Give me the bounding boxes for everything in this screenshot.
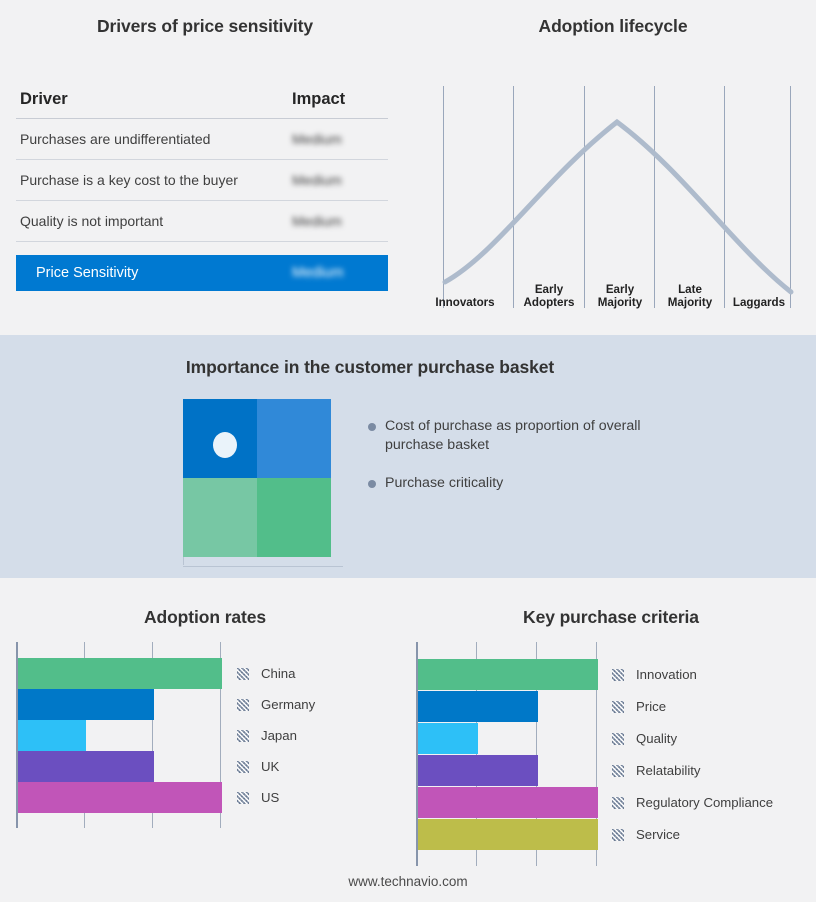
key-purchase-criteria-panel: Key purchase criteria InnovationPriceQua… [406,578,816,902]
bar-fill [18,689,154,720]
legend-swatch-icon [612,669,624,681]
lifecycle-stage-early-majority: Early Majority [588,283,652,309]
table-row-highlighted[interactable]: Price Sensitivity Medium [16,255,388,291]
bar-fill [418,691,538,722]
impact-value: Medium [292,172,384,188]
adoption-lifecycle-panel: Adoption lifecycle Innovators Early Adop… [410,0,816,335]
bar-regulatory-compliance[interactable] [418,787,598,818]
legend-label: UK [261,759,279,774]
legend-item-japan[interactable]: Japan [237,728,297,743]
column-header-driver: Driver [20,90,292,109]
legend-item-price[interactable]: Price [612,699,666,714]
driver-name: Price Sensitivity [36,265,292,281]
legend-swatch-icon [612,829,624,841]
adoption-lifecycle-title: Adoption lifecycle [410,16,816,37]
quadrant-position-marker [213,432,237,458]
key-purchase-criteria-plot [416,642,598,866]
bar-japan[interactable] [18,720,86,751]
legend-item-regulatory-compliance[interactable]: Regulatory Compliance [612,795,773,810]
legend-label: Regulatory Compliance [636,795,773,810]
lifecycle-bell-curve [445,122,791,292]
bullet-icon [368,423,376,431]
legend-label: Quality [636,731,677,746]
legend-swatch-icon [612,701,624,713]
bar-uk[interactable] [18,751,154,782]
adoption-rates-title: Adoption rates [0,607,410,628]
adoption-rates-panel: Adoption rates ChinaGermanyJapanUKUS [0,578,410,902]
bar-fill [418,755,538,786]
adoption-rates-plot [16,642,222,828]
legend-swatch-icon [612,733,624,745]
bar-fill [18,658,222,689]
legend-item-quality[interactable]: Quality [612,731,677,746]
table-row[interactable]: Purchases are undifferentiated Medium [16,119,388,160]
legend-swatch-icon [237,730,249,742]
legend-swatch-icon [237,668,249,680]
adoption-rates-legend: ChinaGermanyJapanUKUS [237,642,387,828]
lifecycle-stage-late-majority: Late Majority [658,283,722,309]
legend-label: Cost of purchase as proportion of overal… [385,417,643,455]
adoption-lifecycle-chart: Innovators Early Adopters Early Majority… [425,78,805,313]
bar-fill [18,720,86,751]
legend-label: Purchase criticality [385,474,503,493]
key-purchase-criteria-title: Key purchase criteria [406,607,816,628]
legend-swatch-icon [612,765,624,777]
impact-value: Medium [292,131,384,147]
table-row[interactable]: Quality is not important Medium [16,201,388,242]
column-header-impact: Impact [292,90,384,109]
legend-label: Innovation [636,667,697,682]
drivers-table: Driver Impact Purchases are undifferenti… [16,90,388,291]
legend-item-relatability[interactable]: Relatability [612,763,701,778]
legend-label: Service [636,827,680,842]
drivers-panel: Drivers of price sensitivity Driver Impa… [0,0,410,335]
legend-item-innovation[interactable]: Innovation [612,667,697,682]
quadrant-cell-top-right[interactable] [257,399,331,478]
legend-label: Relatability [636,763,701,778]
legend-item-uk[interactable]: UK [237,759,279,774]
bar-china[interactable] [18,658,222,689]
quadrant-cell-top-left[interactable] [183,399,257,478]
lifecycle-stage-innovators: Innovators [422,296,508,309]
bar-quality[interactable] [418,723,478,754]
legend-swatch-icon [237,699,249,711]
legend-item-service[interactable]: Service [612,827,680,842]
driver-name: Purchases are undifferentiated [20,131,292,147]
table-row[interactable]: Purchase is a key cost to the buyer Medi… [16,160,388,201]
bar-fill [418,659,598,690]
bar-us[interactable] [18,782,222,813]
driver-name: Quality is not important [20,213,292,229]
legend-label: Price [636,699,666,714]
bar-germany[interactable] [18,689,154,720]
quadrant-cell-bottom-right[interactable] [257,478,331,557]
legend-label: Japan [261,728,297,743]
drivers-table-header: Driver Impact [16,90,388,119]
legend-swatch-icon [612,797,624,809]
legend-label: Germany [261,697,315,712]
key-purchase-criteria-bars [418,642,598,866]
impact-value: Medium [292,265,384,281]
drivers-panel-title: Drivers of price sensitivity [0,16,410,37]
bar-fill [418,819,598,850]
legend-item-us[interactable]: US [237,790,279,805]
lifecycle-curve-svg [425,78,805,313]
quadrant-matrix[interactable] [183,399,343,567]
lifecycle-stage-early-adopters: Early Adopters [517,283,581,309]
legend-item: Cost of purchase as proportion of overal… [368,417,668,455]
bar-service[interactable] [418,819,598,850]
bullet-icon [368,480,376,488]
legend-label: US [261,790,279,805]
legend-item-germany[interactable]: Germany [237,697,315,712]
legend-item-china[interactable]: China [237,666,295,681]
legend-item: Purchase criticality [368,474,668,493]
bar-fill [418,723,478,754]
quadrant-cell-bottom-left[interactable] [183,478,257,557]
quadrant-axis-horizontal [183,566,343,567]
bar-fill [18,751,154,782]
key-purchase-criteria-chart [416,642,598,866]
adoption-rates-chart [16,642,222,828]
adoption-rates-bars [18,642,222,828]
bar-price[interactable] [418,691,538,722]
legend-swatch-icon [237,792,249,804]
legend-swatch-icon [237,761,249,773]
purchase-basket-legend: Cost of purchase as proportion of overal… [368,417,668,512]
bar-fill [18,782,222,813]
impact-value: Medium [292,213,384,229]
driver-name: Purchase is a key cost to the buyer [20,172,292,188]
key-purchase-criteria-legend: InnovationPriceQualityRelatabilityRegula… [612,642,802,866]
bar-relatability[interactable] [418,755,538,786]
watermark: www.technavio.com [0,874,816,889]
legend-label: China [261,666,295,681]
bar-innovation[interactable] [418,659,598,690]
purchase-basket-title: Importance in the customer purchase bask… [0,357,740,378]
bar-fill [418,787,598,818]
lifecycle-stage-laggards: Laggards [728,296,790,309]
